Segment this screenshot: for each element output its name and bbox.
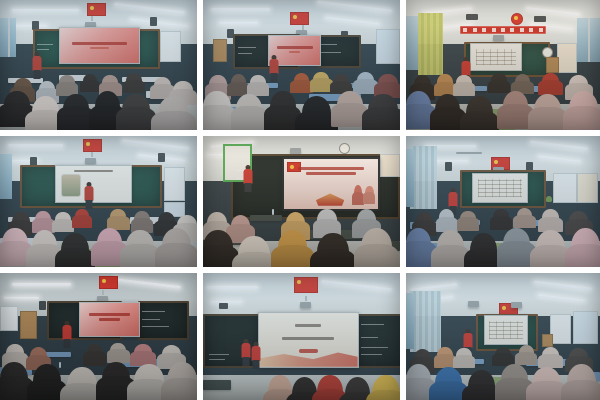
photo-cell-row1-col3[interactable] <box>406 0 600 130</box>
national-flag-icon <box>290 12 309 25</box>
projection-screen <box>470 43 522 71</box>
photo-cell-row3-col2[interactable] <box>203 273 400 400</box>
photo-cell-row3-col3[interactable] <box>406 273 600 400</box>
photo-cell-row1-col1[interactable] <box>0 0 197 130</box>
projection-screen <box>79 302 140 337</box>
national-flag-icon <box>87 3 106 16</box>
wall-clock-icon <box>339 143 350 154</box>
national-flag-icon <box>99 276 118 289</box>
ceiling-projector <box>493 35 504 41</box>
window-curtain <box>410 146 437 209</box>
national-flag-icon <box>83 139 102 152</box>
ceiling-fan <box>456 152 482 154</box>
water-bottle <box>272 209 274 215</box>
ceiling-projector <box>85 158 96 164</box>
wall-clock-icon <box>542 47 553 58</box>
ceiling-projector-2 <box>511 302 522 308</box>
water-bottle <box>59 362 61 368</box>
ceiling-projector <box>290 148 301 154</box>
photo-cell-row1-col2[interactable] <box>203 0 400 130</box>
ceiling-projector <box>468 301 479 307</box>
slide-gate-illustration <box>316 191 344 206</box>
window-curtain <box>418 13 443 75</box>
blackboard-right <box>357 314 400 369</box>
national-flag-icon <box>511 13 523 25</box>
photo-cell-row3-col1[interactable] <box>0 273 197 400</box>
photo-cell-row2-col1[interactable] <box>0 136 197 267</box>
national-flag-icon <box>294 277 318 293</box>
projection-screen <box>258 312 359 367</box>
ceiling-projector <box>300 302 311 308</box>
wall-banner <box>460 26 545 34</box>
window-curtain <box>410 291 441 352</box>
projection-screen <box>59 27 140 64</box>
projection-screen <box>484 315 529 345</box>
projection-screen <box>55 165 132 204</box>
smart-tv-display <box>282 157 381 211</box>
photo-collage-grid <box>0 0 600 400</box>
photo-cell-row2-col2[interactable] <box>203 136 400 267</box>
projection-screen <box>472 173 528 204</box>
blackboard-right <box>138 301 189 341</box>
photo-cell-row2-col3[interactable] <box>406 136 600 267</box>
slide-portrait-photo <box>62 175 80 195</box>
